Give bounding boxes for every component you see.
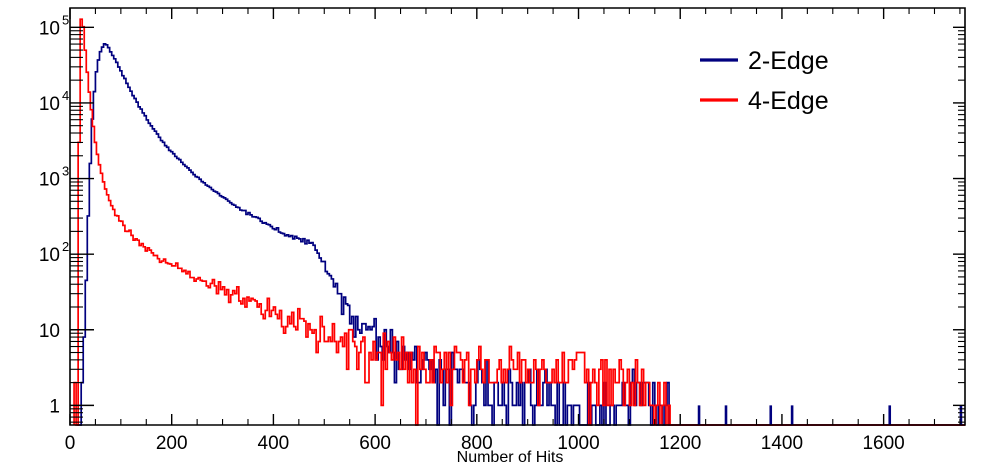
x-tick-label: 1400 (761, 433, 803, 454)
x-tick-label: 1200 (659, 433, 701, 454)
legend-label-4-edge: 4-Edge (748, 87, 829, 115)
svg-text:10: 10 (39, 170, 60, 191)
y-tick-label-exponent: 2 (62, 239, 69, 254)
x-tick-label: 600 (359, 433, 391, 454)
svg-text:10: 10 (39, 245, 60, 266)
y-tick-label: 10 (39, 321, 60, 342)
x-tick-label: 200 (156, 433, 188, 454)
histogram-plot: 0200400600800100012001400160011010210310… (0, 0, 996, 472)
x-tick-label: 1000 (557, 433, 599, 454)
y-tick-label-exponent: 5 (62, 12, 69, 27)
y-tick-label: 1 (49, 396, 60, 417)
y-tick-label-exponent: 3 (62, 164, 69, 179)
svg-text:10: 10 (39, 18, 60, 39)
legend-label-2-edge: 2-Edge (748, 47, 829, 75)
x-tick-label: 1600 (862, 433, 904, 454)
y-tick-label-exponent: 4 (62, 88, 69, 103)
x-tick-label: 0 (65, 433, 76, 454)
x-tick-label: 400 (258, 433, 290, 454)
svg-text:10: 10 (39, 321, 60, 342)
svg-text:1: 1 (49, 396, 60, 417)
chart-canvas: 0200400600800100012001400160011010210310… (0, 0, 996, 472)
x-axis-title: Number of Hits (457, 449, 564, 466)
svg-text:10: 10 (39, 94, 60, 115)
